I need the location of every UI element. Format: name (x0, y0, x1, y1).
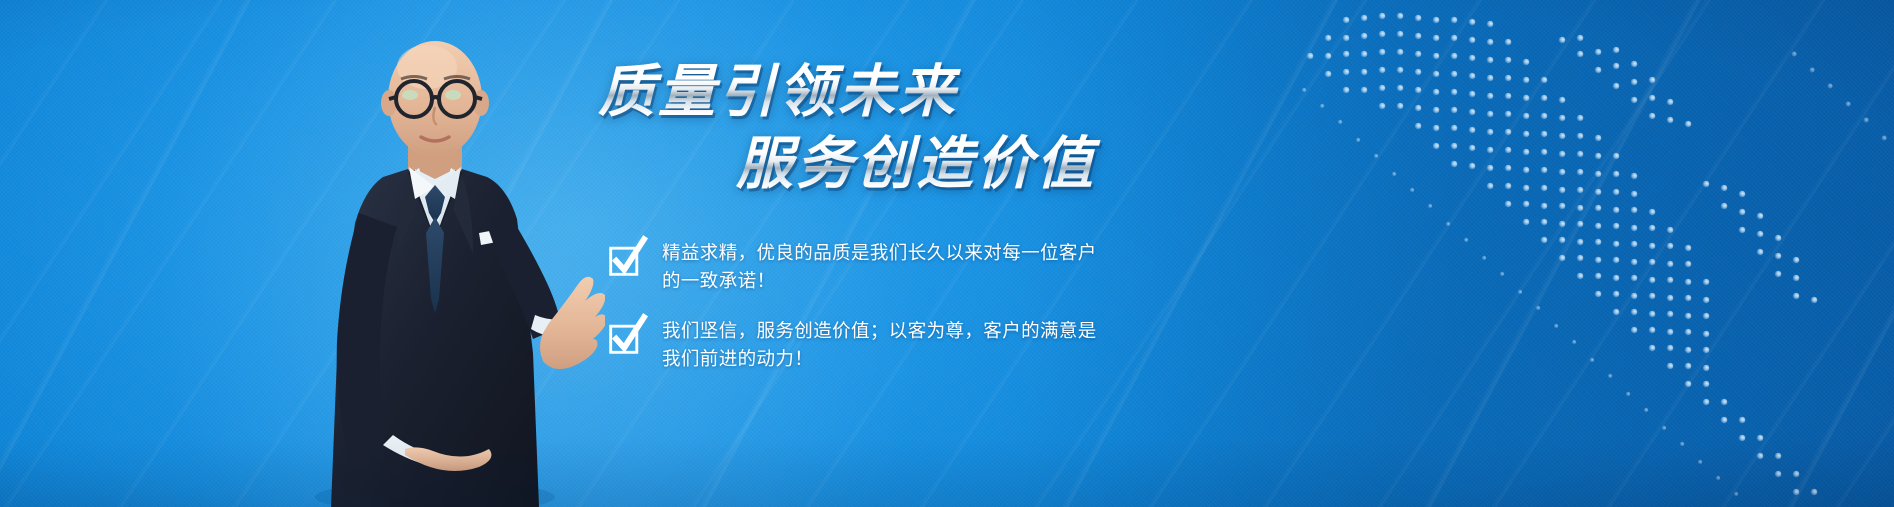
bottom-shade (0, 437, 1894, 507)
background-vignette (0, 0, 1894, 507)
promo-banner: 质量引领未来 服务创造价值 精益求精，优良的品质是我们长久以来对每一位客户 的一… (0, 0, 1894, 507)
